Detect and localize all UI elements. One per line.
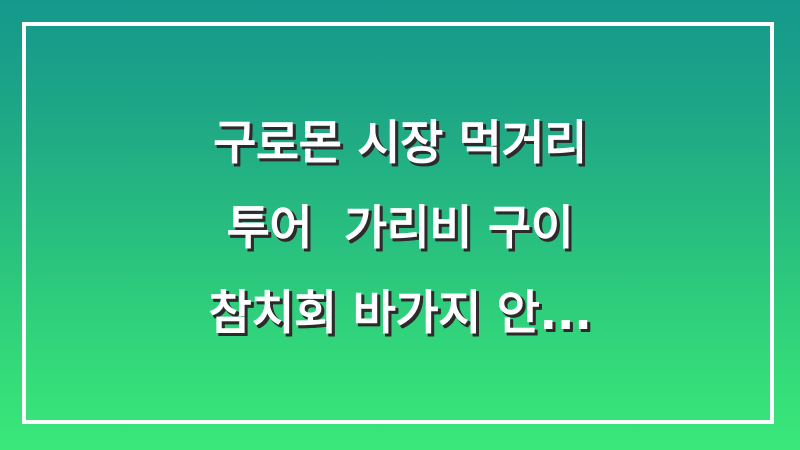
title-line-2: 투어 가리비 구이: [0, 186, 800, 271]
title-line-1: 구로몬 시장 먹거리: [0, 101, 800, 186]
thumbnail-card: 구로몬 시장 먹거리 투어 가리비 구이 참치회 바가지 안...: [0, 0, 800, 450]
title-line-3: 참치회 바가지 안...: [0, 271, 800, 356]
title-block: 구로몬 시장 먹거리 투어 가리비 구이 참치회 바가지 안...: [0, 0, 800, 450]
